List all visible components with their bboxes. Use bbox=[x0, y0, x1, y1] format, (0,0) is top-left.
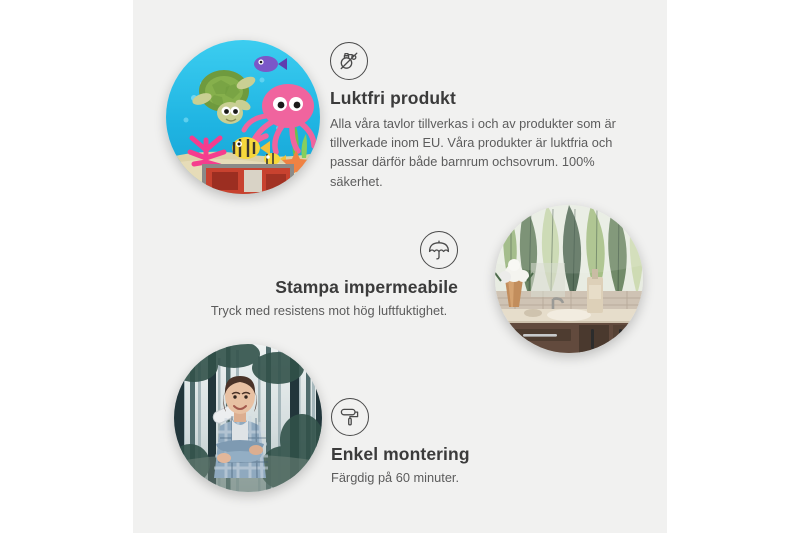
feature-title: Enkel montering bbox=[331, 444, 591, 465]
feature-waterproof: Stampa impermeabile Tryck med resistens … bbox=[200, 231, 458, 320]
feature-title: Luktfri produkt bbox=[330, 88, 626, 109]
promo-infographic: Luktfri produkt Alla våra tavlor tillver… bbox=[0, 0, 800, 533]
photo-underwater bbox=[166, 40, 320, 194]
feature-odourless: Luktfri produkt Alla våra tavlor tillver… bbox=[330, 42, 626, 191]
photo-bathroom bbox=[495, 205, 643, 353]
feature-title: Stampa impermeabile bbox=[200, 277, 458, 298]
photo-painter bbox=[174, 344, 322, 492]
feature-body: Tryck med resistens mot hög luftfuktighe… bbox=[200, 301, 458, 320]
no-fragrance-icon bbox=[330, 42, 368, 80]
feature-easy: Enkel montering Färgdig på 60 minuter. bbox=[331, 398, 591, 487]
umbrella-icon bbox=[420, 231, 458, 269]
paint-roller-icon bbox=[331, 398, 369, 436]
feature-body: Färgdig på 60 minuter. bbox=[331, 468, 591, 487]
feature-body: Alla våra tavlor tillverkas i och av pro… bbox=[330, 114, 626, 191]
